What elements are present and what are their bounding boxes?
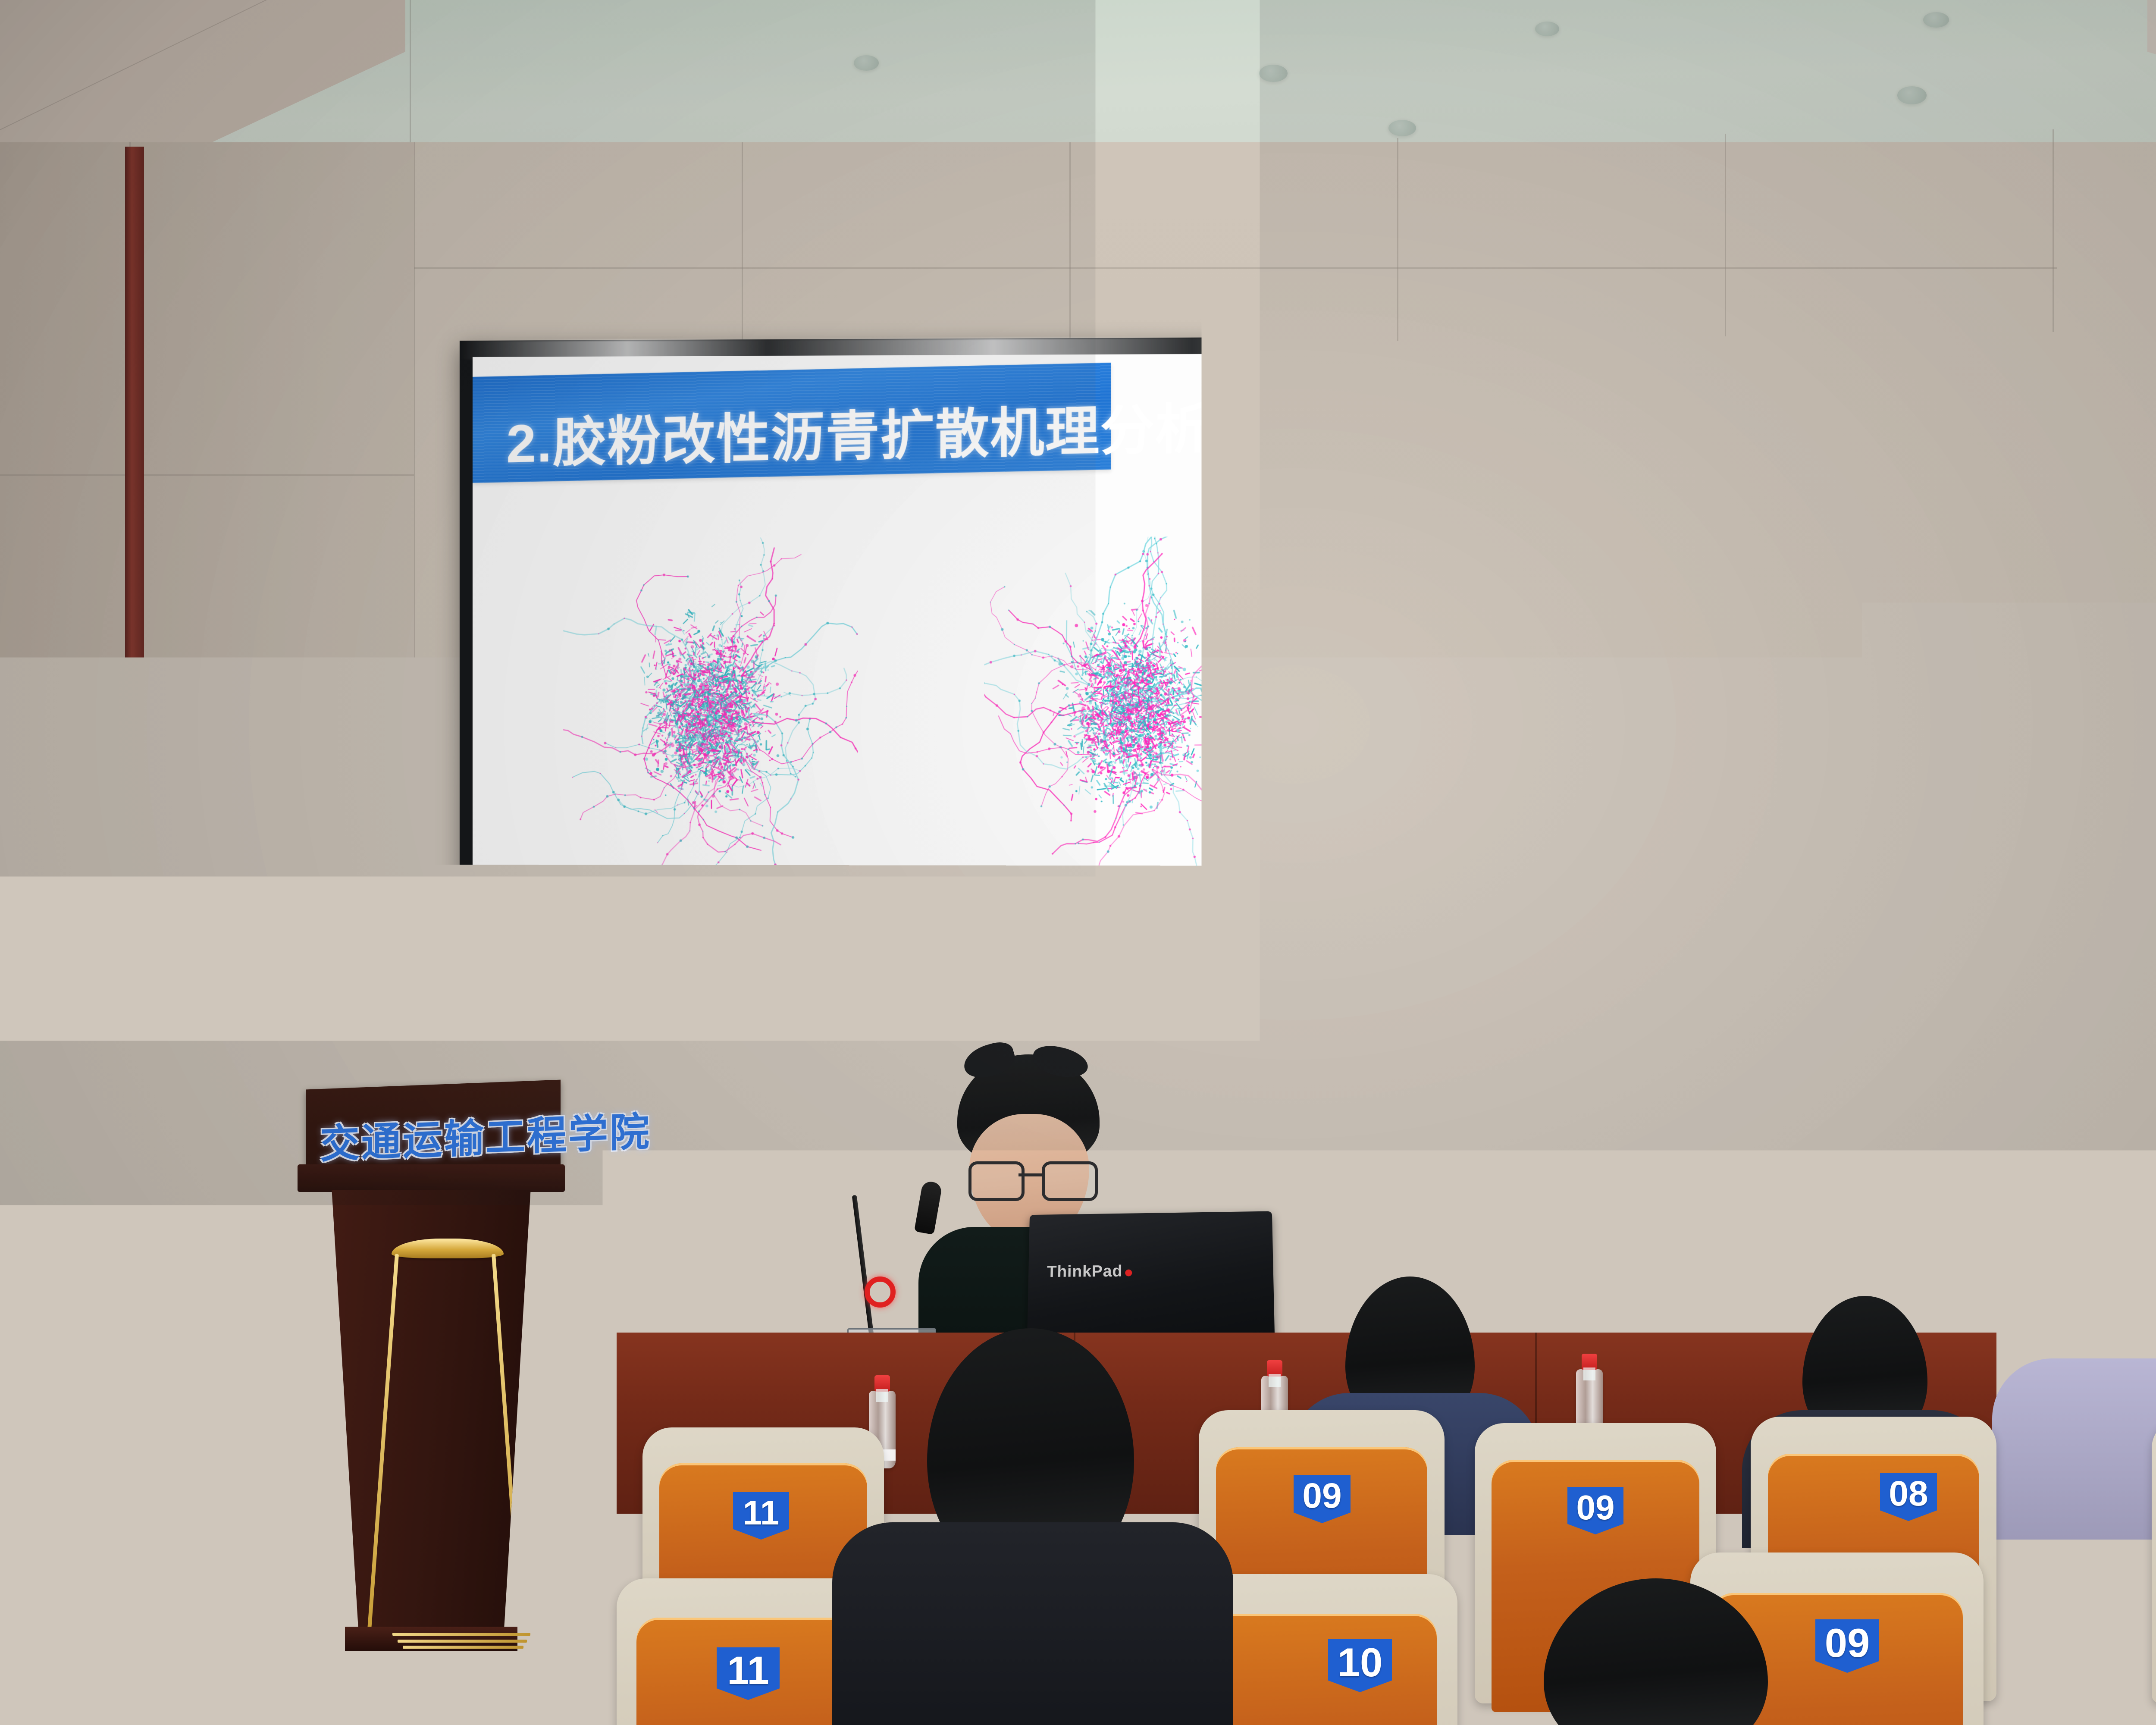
lectern-gold-rail: [367, 1254, 399, 1641]
executive-chair[interactable]: [1365, 1194, 1546, 1276]
glasses-lens: [968, 1161, 1025, 1201]
downlight-icon: [1897, 86, 1927, 104]
lectern-base: [345, 1627, 517, 1651]
chair-arm: [1534, 1195, 1548, 1276]
slide-title-bar: 2.胶粉改性沥青扩散机理分析: [473, 363, 1111, 483]
downlight-icon: [1535, 22, 1559, 36]
wall-panel-joint: [1397, 138, 1398, 341]
bottle-neck: [876, 1389, 888, 1402]
slide-title: 2.胶粉改性沥青扩散机理分析: [506, 385, 1210, 478]
bottle-neck: [1269, 1374, 1281, 1387]
led-display-screen: 2.胶粉改性沥青扩散机理分析 SBR1 SBR2: [460, 335, 1878, 1140]
molecule-label: SBR3: [1400, 902, 1700, 951]
audience-shoulders: [1992, 1358, 2156, 1540]
lectern-gold-rail: [492, 1254, 524, 1641]
glasses-lens: [1042, 1161, 1098, 1201]
wall-pilaster: [125, 147, 144, 1311]
lectern-gold-crest: [392, 1239, 504, 1258]
molecular-structure-svg: [1400, 536, 1700, 894]
glasses-bridge: [1018, 1173, 1042, 1176]
wall-panel-joint: [414, 267, 2057, 269]
wall-panel-joint: [0, 474, 414, 476]
wall-panel-joint: [2053, 129, 2054, 332]
bottle-neck: [1583, 1367, 1595, 1380]
downlight-icon: [1259, 65, 1288, 82]
chair-arm: [1799, 1195, 1814, 1276]
executive-chair[interactable]: [1630, 1194, 1811, 1276]
chair-cushion: [1376, 1235, 1535, 1274]
conference-hall-photo: 2.胶粉改性沥青扩散机理分析 SBR1 SBR2: [0, 0, 2156, 1725]
molecular-structure-svg: [984, 536, 1282, 893]
wall-panel-joint: [742, 142, 743, 367]
wall-panel-joint: [1069, 142, 1071, 349]
lectern-top: [298, 1164, 565, 1192]
molecule-label: SBR1: [563, 900, 858, 949]
chair-arm: [1627, 1195, 1642, 1276]
audience-shoulders: [832, 1522, 1233, 1725]
lectern-base-trim: [392, 1633, 530, 1636]
laptop-logo-dot-icon: [1125, 1270, 1132, 1276]
molecule-panel: SBR3: [1400, 536, 1700, 894]
molecule-panel: SBR2: [984, 536, 1282, 893]
wall-panel-joint: [1725, 134, 1726, 336]
chair-arm: [1362, 1195, 1377, 1276]
molecule-label: SBR2: [984, 901, 1282, 950]
downlight-icon: [1388, 120, 1416, 136]
laptop-brand-logo: ThinkPad: [1047, 1262, 1132, 1281]
lectern-base-trim: [403, 1646, 523, 1649]
microphone-indicator-light: [865, 1276, 896, 1308]
downlight-icon: [1923, 12, 1949, 28]
door-hinge-icon: [2126, 924, 2141, 954]
presentation-slide: 2.胶粉改性沥青扩散机理分析 SBR1 SBR2: [473, 351, 1865, 1126]
lectern-body: [318, 1190, 544, 1639]
wall-panel-joint: [0, 798, 414, 799]
downlight-icon: [854, 55, 879, 71]
molecule-panel: SBR1: [563, 537, 858, 893]
left-wall-framed-niche: [0, 919, 117, 1165]
laptop-brand-text: ThinkPad: [1047, 1262, 1123, 1281]
presenter-glasses-icon: [968, 1161, 1092, 1195]
lectern: 交通运输工程学院: [302, 1164, 561, 1673]
chair-cushion: [1641, 1235, 1800, 1274]
lectern-base-trim: [398, 1640, 527, 1643]
molecule-panel-row: SBR1 SBR2 SBR3: [473, 535, 1865, 995]
molecular-structure-svg: [563, 537, 858, 893]
door-hinge-icon: [2126, 1046, 2141, 1076]
audience-head: [1996, 1621, 2156, 1725]
